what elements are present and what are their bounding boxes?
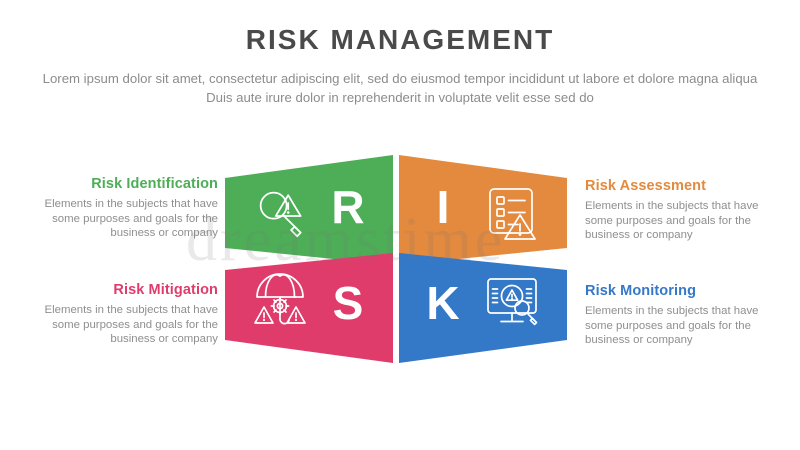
wedge-shape-orange: [399, 155, 567, 265]
wedge-letter-i: I: [437, 181, 450, 233]
wedge-letter-s: S: [333, 277, 364, 329]
wedge-risk-mitigation[interactable]: S: [225, 253, 393, 363]
panel-title-risk-monitoring: Risk Monitoring: [585, 283, 785, 300]
panel-description-risk-identification: Elements in the subjects that have some …: [18, 197, 218, 241]
panel-description-risk-mitigation: Elements in the subjects that have some …: [18, 303, 218, 347]
panel-risk-monitoring: Risk Monitoring Elements in the subjects…: [585, 283, 785, 348]
risk-bowtie-diagram: R I: [215, 145, 575, 365]
panel-description-risk-assessment: Elements in the subjects that have some …: [585, 199, 785, 243]
wedge-letter-k: K: [426, 277, 459, 329]
wedge-risk-monitoring[interactable]: K: [399, 253, 567, 363]
panel-risk-identification: Risk Identification Elements in the subj…: [18, 176, 218, 241]
infographic-page: RISK MANAGEMENT Lorem ipsum dolor sit am…: [0, 0, 800, 450]
page-title: RISK MANAGEMENT: [0, 0, 800, 56]
panel-risk-assessment: Risk Assessment Elements in the subjects…: [585, 178, 785, 243]
wedge-risk-assessment[interactable]: I: [399, 155, 567, 265]
panel-title-risk-mitigation: Risk Mitigation: [18, 282, 218, 299]
page-subtitle: Lorem ipsum dolor sit amet, consectetur …: [30, 56, 770, 107]
panel-description-risk-monitoring: Elements in the subjects that have some …: [585, 304, 785, 348]
wedge-shape-pink: [225, 253, 393, 363]
header: RISK MANAGEMENT Lorem ipsum dolor sit am…: [0, 0, 800, 107]
wedge-shape-blue: [399, 253, 567, 363]
wedge-shape-green: [225, 155, 393, 265]
panel-title-risk-assessment: Risk Assessment: [585, 178, 785, 195]
panel-risk-mitigation: Risk Mitigation Elements in the subjects…: [18, 282, 218, 347]
wedge-risk-identification[interactable]: R: [225, 155, 393, 265]
wedge-letter-r: R: [331, 181, 364, 233]
panel-title-risk-identification: Risk Identification: [18, 176, 218, 193]
